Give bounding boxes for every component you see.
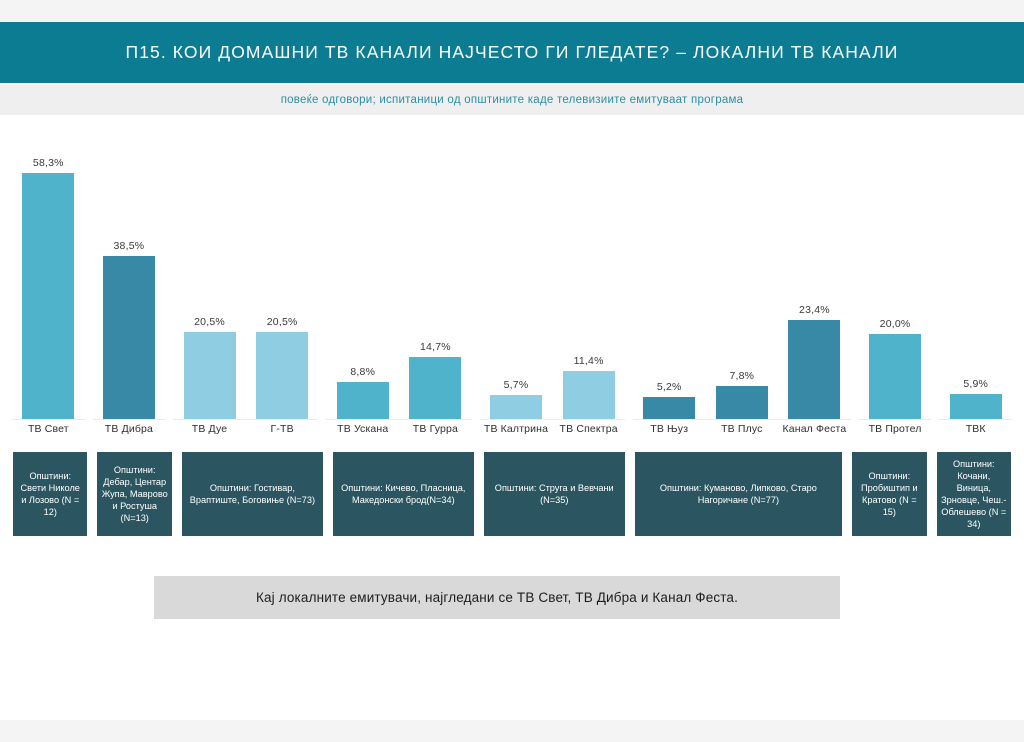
bar-rect[interactable]	[716, 386, 768, 419]
x-axis-tick-label: ТВ Дибра	[93, 420, 166, 456]
bar-group: 5,7%11,4%	[480, 120, 625, 420]
bar-rect[interactable]	[256, 332, 308, 419]
page-title: П15. КОИ ДОМАШНИ ТВ КАНАЛИ НАЈЧЕСТО ГИ Г…	[126, 42, 899, 63]
bar-value-label: 5,2%	[657, 381, 682, 393]
subtitle-band: повеќе одговори; испитаници од општините…	[0, 85, 1024, 115]
bar-rect[interactable]	[337, 382, 389, 419]
bar-slot: 11,4%	[552, 120, 625, 419]
bar-value-label: 20,5%	[194, 316, 225, 328]
bar-value-label: 11,4%	[574, 355, 604, 367]
x-axis-tick-label: Г-ТВ	[246, 420, 319, 456]
bar-slot: 7,8%	[706, 120, 779, 419]
bar-rect[interactable]	[22, 173, 74, 419]
top-margin-strip	[0, 0, 1024, 22]
bar-value-label: 8,8%	[350, 366, 375, 378]
bar-value-label: 38,5%	[114, 240, 145, 252]
slide-footer: 47795 MARKETVISION 47	[0, 672, 1024, 720]
municipality-note-box: Општини: Свети Николе и Лозово (N = 12)	[13, 452, 87, 536]
chart-plot-area: 58,3%38,5%20,5%20,5%8,8%14,7%5,7%11,4%5,…	[0, 120, 1024, 420]
bar-rect[interactable]	[643, 397, 695, 419]
x-axis-tick-label: ТВ Гурра	[399, 420, 472, 456]
x-axis-tick-label: ТВ Свет	[12, 420, 85, 456]
bar-group: 38,5%	[93, 120, 166, 420]
axis-group: ТВ КалтринаТВ Спектра	[480, 420, 625, 456]
bar-slot: 8,8%	[326, 120, 399, 419]
municipality-boxes-row: Општини: Свети Николе и Лозово (N = 12)О…	[0, 452, 1024, 522]
bar-rect[interactable]	[950, 394, 1002, 419]
bar-groups-row: 58,3%38,5%20,5%20,5%8,8%14,7%5,7%11,4%5,…	[8, 120, 1016, 420]
bar-slot: 20,5%	[246, 120, 319, 419]
axis-group: ТВ Дибра	[93, 420, 166, 456]
bar-rect[interactable]	[490, 395, 542, 419]
bar-slot: 58,3%	[12, 120, 85, 419]
bar-value-label: 7,8%	[729, 370, 754, 382]
bar-rect[interactable]	[184, 332, 236, 419]
municipality-note-box: Општини: Куманово, Липково, Старо Нагори…	[635, 452, 842, 536]
bar-value-label: 20,5%	[267, 316, 298, 328]
axis-group: ТВ ДуеГ-ТВ	[173, 420, 318, 456]
bar-value-label: 5,7%	[504, 379, 529, 391]
axis-group: ТВ Свет	[12, 420, 85, 456]
bar-group: 20,5%20,5%	[173, 120, 318, 420]
bar-value-label: 58,3%	[33, 157, 64, 169]
subtitle-text: повеќе одговори; испитаници од општините…	[281, 94, 744, 106]
bar-group: 5,2%7,8%23,4%	[633, 120, 851, 420]
bar-value-label: 20,0%	[880, 318, 911, 330]
bar-value-label: 14,7%	[420, 341, 451, 353]
bar-slot: 23,4%	[778, 120, 851, 419]
bar-slot: 14,7%	[399, 120, 472, 419]
bar-rect[interactable]	[788, 320, 840, 419]
bar-slot: 5,7%	[480, 120, 553, 419]
bar-slot: 5,9%	[939, 120, 1012, 419]
x-axis-tick-label: ТВК	[939, 420, 1012, 456]
bar-value-label: 5,9%	[963, 378, 988, 390]
bar-slot: 38,5%	[93, 120, 166, 419]
title-bar: П15. КОИ ДОМАШНИ ТВ КАНАЛИ НАЈЧЕСТО ГИ Г…	[0, 22, 1024, 83]
x-axis-tick-label: ТВ Протел	[859, 420, 932, 456]
x-axis-labels-row: ТВ СветТВ ДибраТВ ДуеГ-ТВТВ УсканаТВ Гур…	[0, 420, 1024, 456]
bar-group: 5,9%	[939, 120, 1012, 420]
x-axis-tick-label: ТВ Ускана	[326, 420, 399, 456]
municipality-note-box: Општини: Дебар, Центар Жупа, Маврово и Р…	[97, 452, 171, 536]
x-axis-tick-label: ТВ Калтрина	[480, 420, 553, 456]
bar-slot: 20,0%	[859, 120, 932, 419]
summary-callout: Кај локалните емитувачи, најгледани се Т…	[154, 576, 840, 619]
x-axis-tick-label: ТВ Спектра	[552, 420, 625, 456]
bar-group: 20,0%	[859, 120, 932, 420]
bar-rect[interactable]	[563, 371, 615, 419]
bar-group: 58,3%	[12, 120, 85, 420]
axis-group: ТВ ЊузТВ ПлусКанал Феста	[633, 420, 851, 456]
x-axis-tick-label: ТВ Дуе	[173, 420, 246, 456]
bar-rect[interactable]	[869, 334, 921, 419]
axis-group: ТВ УсканаТВ Гурра	[326, 420, 471, 456]
municipality-boxes-inner: Општини: Свети Николе и Лозово (N = 12)О…	[8, 452, 1016, 536]
bar-group: 8,8%14,7%	[326, 120, 471, 420]
bar-value-label: 23,4%	[799, 304, 830, 316]
x-axis-tick-label: ТВ Њуз	[633, 420, 706, 456]
axis-group: ТВК	[939, 420, 1012, 456]
bar-slot: 20,5%	[173, 120, 246, 419]
slide-root: П15. КОИ ДОМАШНИ ТВ КАНАЛИ НАЈЧЕСТО ГИ Г…	[0, 0, 1024, 742]
bottom-margin-strip	[0, 720, 1024, 742]
bar-slot: 5,2%	[633, 120, 706, 419]
bar-rect[interactable]	[103, 256, 155, 419]
municipality-note-box: Општини: Струга и Вевчани (N=35)	[484, 452, 625, 536]
x-axis-tick-label: Канал Феста	[778, 420, 851, 456]
municipality-note-box: Општини: Пробиштип и Кратово (N = 15)	[852, 452, 926, 536]
municipality-note-box: Општини: Кочани, Виница, Зрновце, Чеш.-О…	[937, 452, 1011, 536]
summary-text: Кај локалните емитувачи, најгледани се Т…	[256, 590, 738, 605]
x-axis-tick-label: ТВ Плус	[706, 420, 779, 456]
x-axis-inner: ТВ СветТВ ДибраТВ ДуеГ-ТВТВ УсканаТВ Гур…	[8, 420, 1016, 456]
municipality-note-box: Општини: Кичево, Пласница, Македонски бр…	[333, 452, 474, 536]
municipality-note-box: Општини: Гостивар, Враптиште, Боговиње (…	[182, 452, 323, 536]
bar-rect[interactable]	[409, 357, 461, 419]
axis-group: ТВ Протел	[859, 420, 932, 456]
